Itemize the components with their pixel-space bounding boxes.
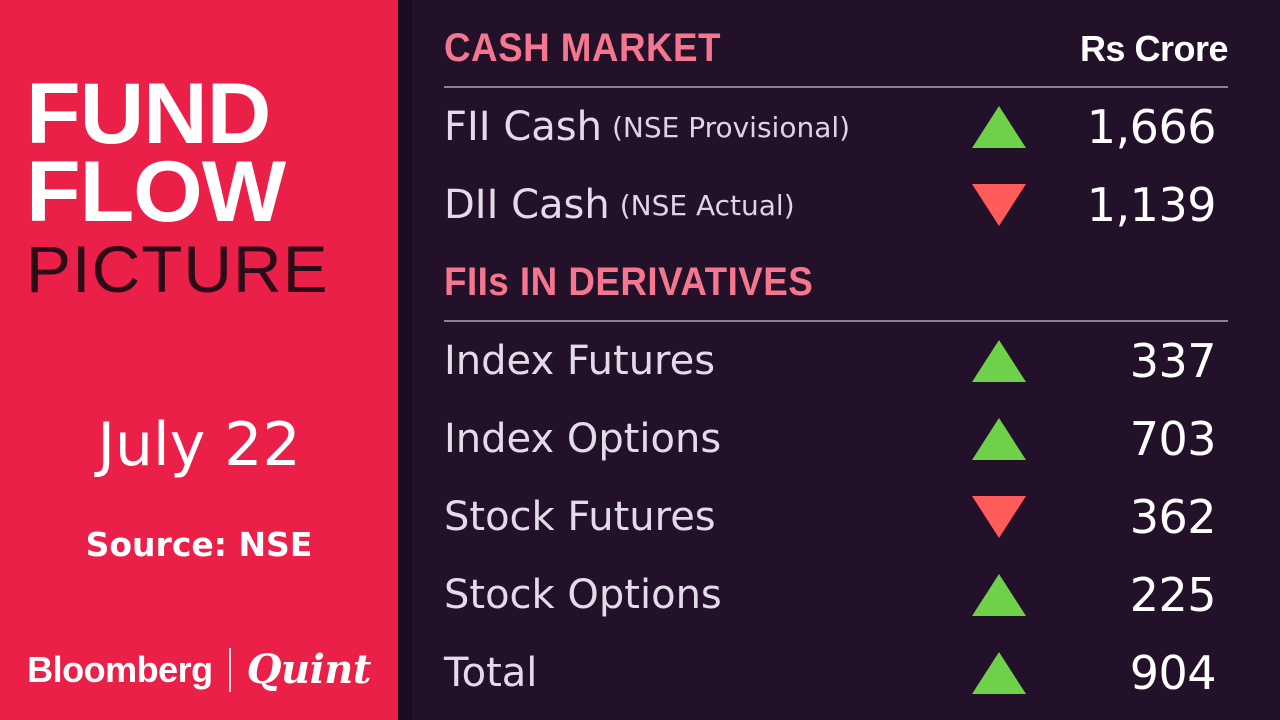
table-row: Stock Options 225 (444, 556, 1228, 634)
table-row: Index Futures 337 (444, 322, 1228, 400)
publisher-quint-wordmark: Quint (247, 650, 371, 690)
publisher-bloomberg-wordmark: Bloomberg (27, 652, 213, 688)
arrow-up-icon (972, 418, 1026, 460)
row-value: 703 (1044, 400, 1216, 478)
headline-line-fund: FUND (26, 78, 390, 152)
arrow-down-icon (972, 184, 1026, 226)
table-row: Stock Futures 362 (444, 478, 1228, 556)
row-value: 1,139 (1044, 166, 1216, 244)
row-value: 337 (1044, 322, 1216, 400)
publisher-logo: Bloomberg Quint (0, 648, 398, 692)
fund-flow-graphic: FUND FLOW PICTURE July 22 Source: NSE Bl… (0, 0, 1280, 720)
row-value: 225 (1044, 556, 1216, 634)
direction-cell (964, 634, 1034, 712)
row-label: DII Cash (444, 185, 610, 225)
arrow-up-icon (972, 652, 1026, 694)
arrow-up-icon (972, 574, 1026, 616)
direction-cell (964, 166, 1034, 244)
direction-cell (964, 88, 1034, 166)
panel-seam (398, 0, 412, 720)
direction-cell (964, 556, 1034, 634)
row-sublabel: (NSE Actual) (620, 189, 795, 222)
direction-cell (964, 400, 1034, 478)
table-row: FII Cash (NSE Provisional) 1,666 (444, 88, 1228, 166)
direction-cell (964, 478, 1034, 556)
headline-line-picture: PICTURE (26, 236, 383, 302)
row-value: 1,666 (1044, 88, 1216, 166)
row-sublabel: (NSE Provisional) (612, 111, 850, 144)
row-label: Stock Futures (444, 497, 716, 537)
row-label: Stock Options (444, 575, 722, 615)
branding-panel: FUND FLOW PICTURE July 22 Source: NSE Bl… (0, 0, 398, 720)
row-label: Total (444, 653, 537, 693)
section-header: FIIs IN DERIVATIVES (444, 262, 1228, 314)
date-label: July 22 (0, 415, 398, 475)
unit-label: Rs Crore (1080, 31, 1228, 67)
arrow-down-icon (972, 496, 1026, 538)
direction-cell (964, 322, 1034, 400)
arrow-up-icon (972, 106, 1026, 148)
section-title-fiis-in-derivatives: FIIs IN DERIVATIVES (444, 262, 813, 302)
section-header: CASH MARKET Rs Crore (444, 28, 1228, 80)
headline-logo: FUND FLOW PICTURE (26, 78, 376, 302)
row-label: Index Futures (444, 341, 715, 381)
source-label: Source: NSE (0, 528, 398, 561)
section-title-cash-market: CASH MARKET (444, 28, 721, 68)
row-label: FII Cash (444, 107, 602, 147)
publisher-divider (229, 648, 231, 692)
row-value: 362 (1044, 478, 1216, 556)
arrow-up-icon (972, 340, 1026, 382)
row-value: 904 (1044, 634, 1216, 712)
section-fiis-in-derivatives: FIIs IN DERIVATIVES Index Futures 337 In… (444, 262, 1228, 712)
headline-line-flow: FLOW (26, 156, 390, 230)
table-row: Total 904 (444, 634, 1228, 712)
data-panel: CASH MARKET Rs Crore FII Cash (NSE Provi… (412, 0, 1280, 720)
section-cash-market: CASH MARKET Rs Crore FII Cash (NSE Provi… (444, 28, 1228, 244)
table-row: DII Cash (NSE Actual) 1,139 (444, 166, 1228, 244)
table-row: Index Options 703 (444, 400, 1228, 478)
row-label: Index Options (444, 419, 721, 459)
